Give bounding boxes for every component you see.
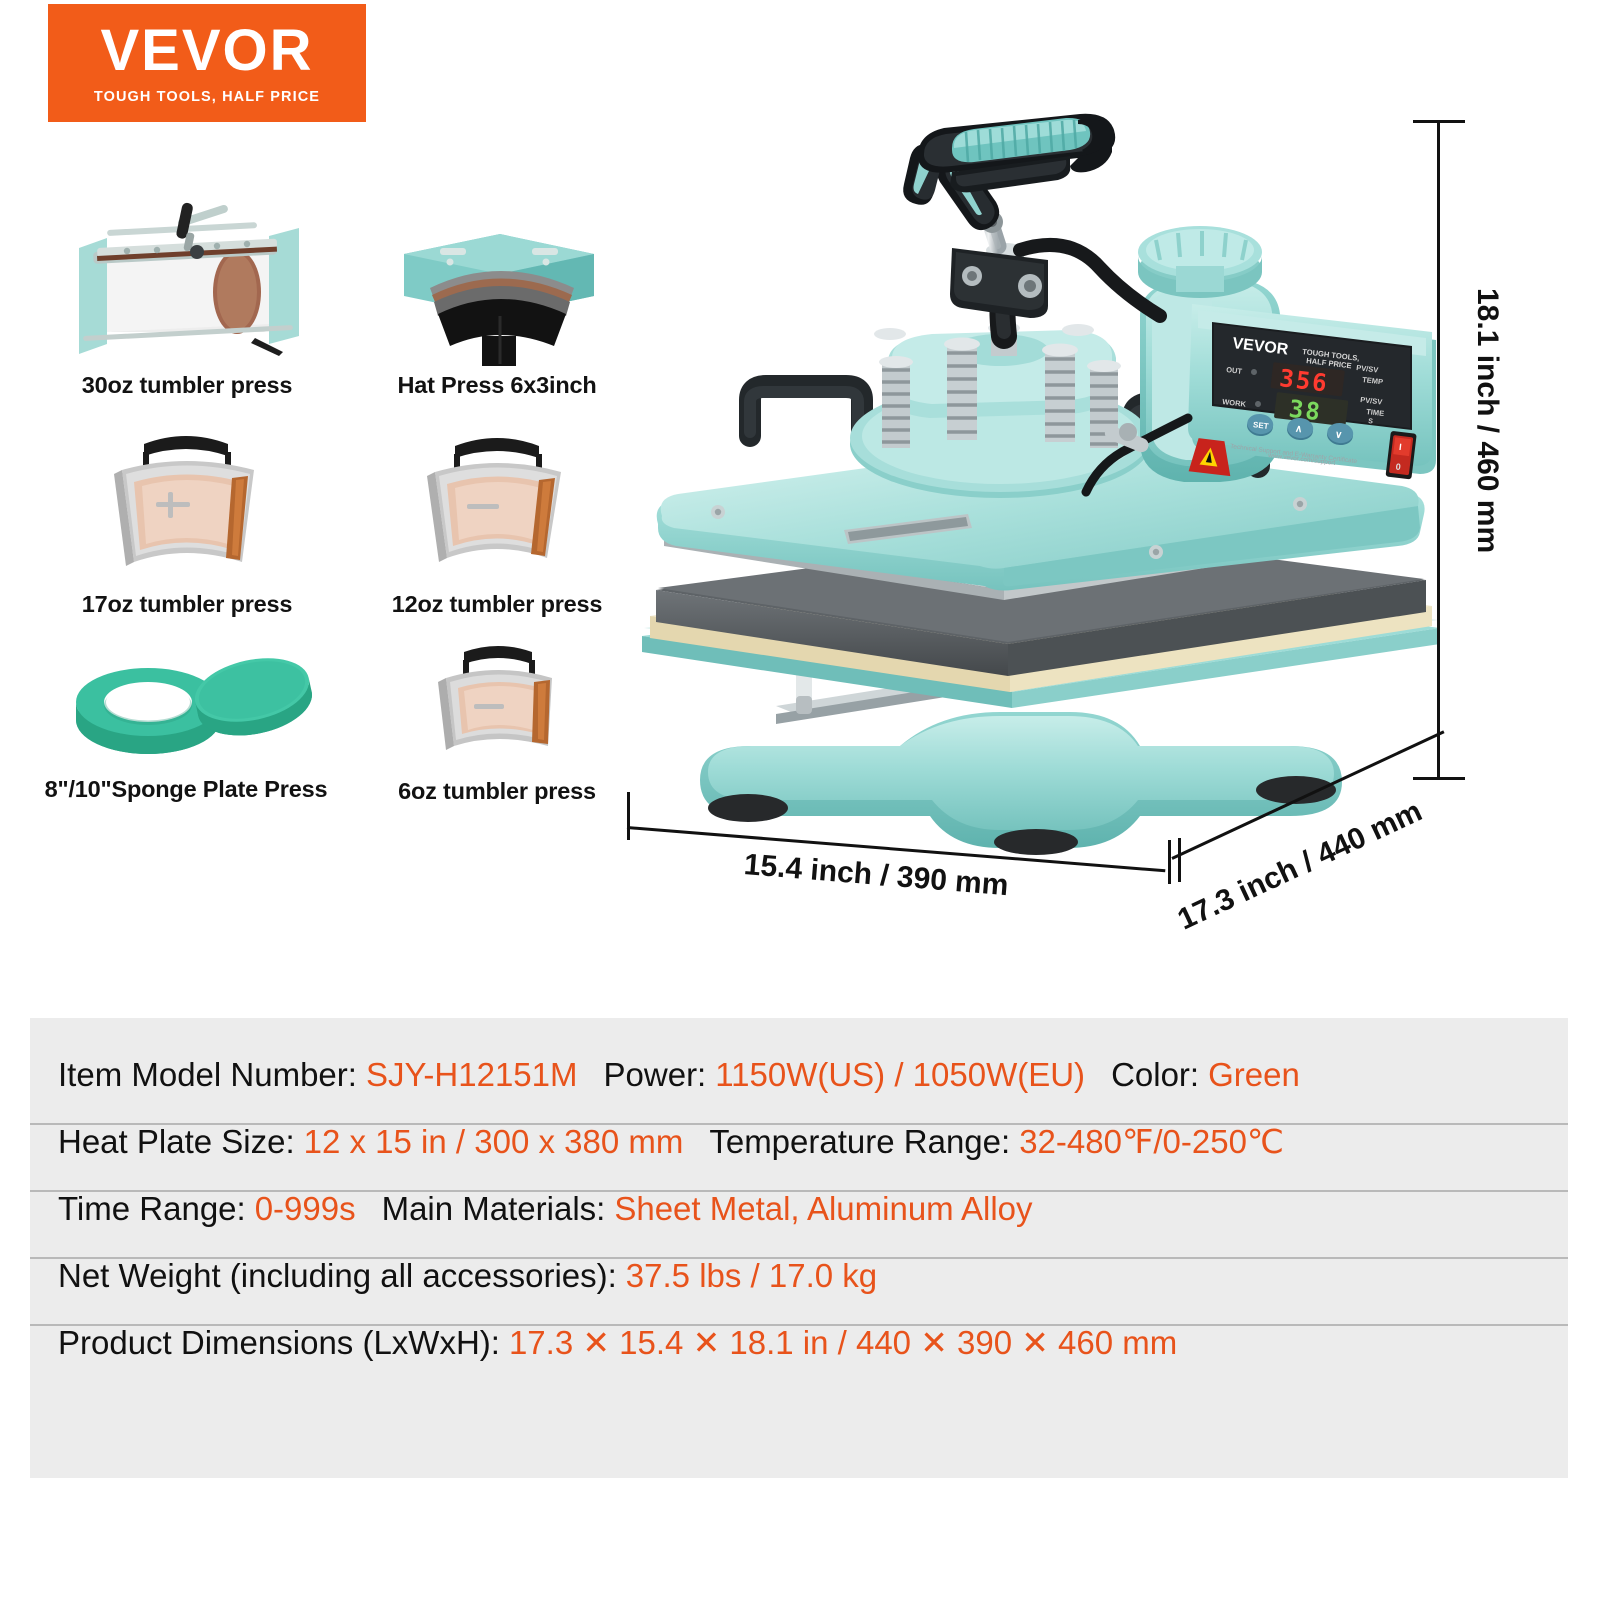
spec-value: 1150W(US) / 1050W(EU)	[715, 1058, 1085, 1091]
tumbler-press-roller-icon	[42, 196, 332, 366]
tumbler-press-curved-icon	[42, 430, 332, 585]
spec-row: Heat Plate Size: 12 x 15 in / 300 x 380 …	[30, 1123, 1568, 1190]
dim-height-line	[1437, 120, 1440, 780]
spec-value: 37.5 lbs / 17.0 kg	[626, 1259, 877, 1292]
spec-value: 17.3 ✕ 15.4 ✕ 18.1 in / 440 ✕ 390 ✕ 460 …	[509, 1326, 1177, 1359]
accessory-tumbler-17oz: 17oz tumbler press	[42, 430, 332, 618]
logo-tagline: TOUGH TOOLS, HALF PRICE	[94, 89, 320, 105]
spec-key: Heat Plate Size:	[58, 1125, 295, 1158]
spec-key: Net Weight (including all accessories):	[58, 1259, 617, 1292]
svg-text:∨: ∨	[1334, 429, 1343, 441]
svg-text:OUT: OUT	[1226, 365, 1243, 376]
heat-press-machine-illustration: VEVOR TOUGH TOOLS, HALF PRICE 356 38 OUT…	[600, 100, 1480, 890]
accessory-label: 6oz tumbler press	[352, 778, 642, 805]
spec-key: Temperature Range:	[709, 1125, 1010, 1158]
spec-key: Color:	[1111, 1058, 1199, 1091]
spec-row: Product Dimensions (LxWxH): 17.3 ✕ 15.4 …	[30, 1324, 1568, 1391]
tumbler-press-straight-icon	[352, 640, 642, 772]
accessory-label: 8"/10"Sponge Plate Press	[26, 776, 346, 803]
svg-text:∧: ∧	[1294, 423, 1303, 435]
spec-row: Time Range: 0-999s Main Materials: Sheet…	[30, 1190, 1568, 1257]
accessory-tumbler-12oz: 12oz tumbler press	[352, 430, 642, 618]
spec-row: Item Model Number: SJY-H12151M Power: 11…	[30, 1058, 1568, 1123]
spec-value: SJY-H12151M	[366, 1058, 578, 1091]
hat-press-icon	[352, 196, 642, 366]
vevor-logo: VEVOR TOUGH TOOLS, HALF PRICE	[48, 4, 366, 122]
spec-key: Product Dimensions (LxWxH):	[58, 1326, 500, 1359]
accessory-tumbler-30oz: 30oz tumbler press	[42, 196, 332, 399]
spec-value: 12 x 15 in / 300 x 380 mm	[304, 1125, 684, 1158]
logo-wordmark: VEVOR	[100, 22, 313, 80]
dim-depth-tick-b	[1178, 838, 1181, 882]
accessory-label: 17oz tumbler press	[42, 591, 332, 618]
accessory-hat-press: Hat Press 6x3inch	[352, 196, 642, 399]
specification-table: Item Model Number: SJY-H12151M Power: 11…	[30, 1018, 1568, 1478]
accessory-tumbler-6oz: 6oz tumbler press	[352, 640, 642, 805]
dim-height-tick-bottom	[1413, 777, 1465, 780]
dim-height-tick-top	[1413, 120, 1465, 123]
spec-key: Power:	[604, 1058, 707, 1091]
accessory-label: 12oz tumbler press	[352, 591, 642, 618]
accessory-label: Hat Press 6x3inch	[352, 372, 642, 399]
spec-key: Main Materials:	[382, 1192, 606, 1225]
dim-width-tick-left	[627, 792, 630, 840]
accessory-sponge-plate: 8"/10"Sponge Plate Press	[26, 620, 346, 803]
spec-value: Green	[1208, 1058, 1300, 1091]
tumbler-press-curved-icon	[352, 430, 642, 585]
spec-key: Time Range:	[58, 1192, 246, 1225]
dim-height-label: 18.1 inch / 460 mm	[1470, 288, 1504, 553]
svg-text:356: 356	[1278, 364, 1330, 398]
dim-depth-tick-a	[1168, 840, 1171, 884]
spec-value: Sheet Metal, Aluminum Alloy	[614, 1192, 1032, 1225]
sponge-rings-icon	[26, 620, 346, 770]
accessory-label: 30oz tumbler press	[42, 372, 332, 399]
spec-key: Item Model Number:	[58, 1058, 357, 1091]
svg-text:SET: SET	[1253, 420, 1270, 431]
spec-value: 0-999s	[255, 1192, 356, 1225]
spec-value: 32-480℉/0-250℃	[1019, 1125, 1284, 1158]
spec-row: Net Weight (including all accessories): …	[30, 1257, 1568, 1324]
